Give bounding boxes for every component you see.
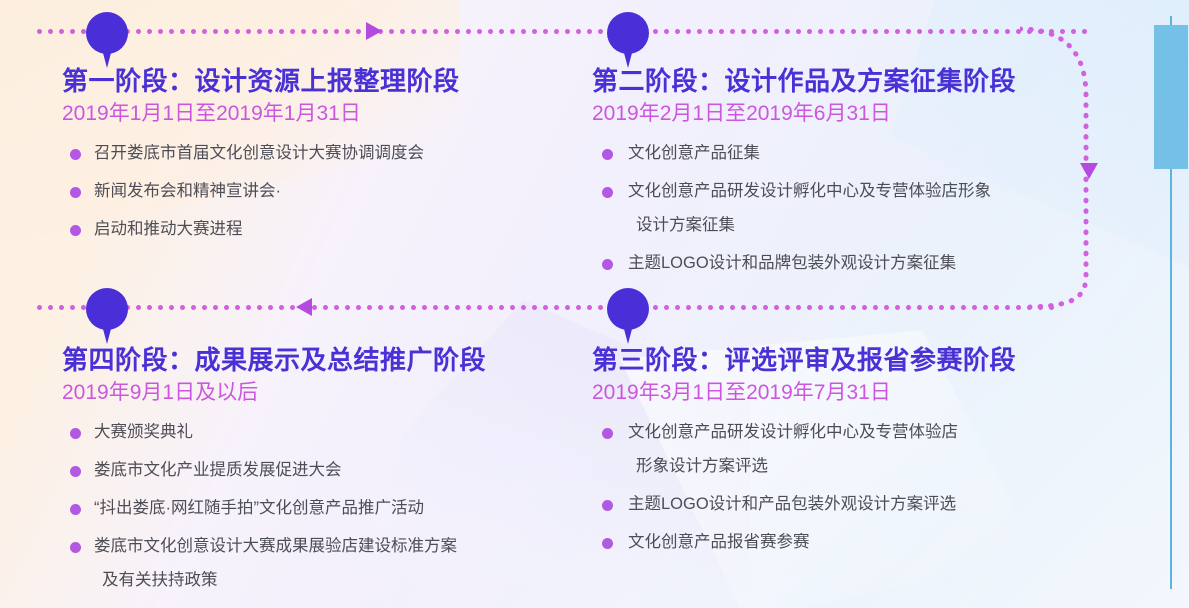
- bullet-icon: [70, 466, 81, 477]
- arrow-left-icon: [296, 298, 312, 316]
- bullet-icon: [70, 542, 81, 553]
- bullet-icon: [70, 504, 81, 515]
- stage-block-3: 第三阶段：评选评审及报省参赛阶段 2019年3月1日至2019年7月31日 文化…: [592, 345, 1092, 569]
- list-item: 娄底市文化产业提质发展促进大会: [62, 459, 562, 483]
- candlestick-bar-icon: [1154, 16, 1188, 596]
- list-item: 召开娄底市首届文化创意设计大赛协调调度会: [62, 142, 562, 166]
- bullet-icon: [70, 225, 81, 236]
- list-item-text: 主题LOGO设计和产品包装外观设计方案评选: [628, 495, 956, 513]
- bullet-icon: [602, 428, 613, 439]
- list-item: 新闻发布会和精神宣讲会·: [62, 180, 562, 204]
- list-item-text-line2: 形象设计方案评选: [628, 455, 1092, 479]
- list-item: “抖出娄底·网红随手拍”文化创意产品推广活动: [62, 497, 562, 521]
- stage-item-list: 召开娄底市首届文化创意设计大赛协调调度会 新闻发布会和精神宣讲会· 启动和推动大…: [62, 142, 562, 242]
- list-item-text: 娄底市文化创意设计大赛成果展验店建设标准方案: [94, 537, 457, 555]
- list-item-text: 文化创意产品征集: [628, 144, 760, 162]
- location-pin-icon-stage-4: [86, 288, 128, 344]
- list-item: 文化创意产品报省赛参赛: [592, 531, 1092, 555]
- stage-item-list: 文化创意产品研发设计孵化中心及专营体验店 形象设计方案评选 主题LOGO设计和产…: [592, 421, 1092, 555]
- list-item-text: “抖出娄底·网红随手拍”文化创意产品推广活动: [94, 499, 424, 517]
- bullet-icon: [602, 149, 613, 160]
- list-item-text: 召开娄底市首届文化创意设计大赛协调调度会: [94, 144, 424, 162]
- list-item: 娄底市文化创意设计大赛成果展验店建设标准方案 及有关扶持政策: [62, 535, 562, 593]
- list-item-text: 文化创意产品研发设计孵化中心及专营体验店形象: [628, 182, 991, 200]
- list-item-text: 文化创意产品研发设计孵化中心及专营体验店: [628, 423, 958, 441]
- location-pin-icon-stage-1: [86, 12, 128, 68]
- list-item-text-line2: 设计方案征集: [628, 214, 1092, 238]
- infographic-canvas: 第一阶段：设计资源上报整理阶段 2019年1月1日至2019年1月31日 召开娄…: [0, 0, 1189, 608]
- list-item: 大赛颁奖典礼: [62, 421, 562, 445]
- list-item: 文化创意产品研发设计孵化中心及专营体验店形象 设计方案征集: [592, 180, 1092, 238]
- stage-item-list: 大赛颁奖典礼 娄底市文化产业提质发展促进大会 “抖出娄底·网红随手拍”文化创意产…: [62, 421, 562, 593]
- stage-date: 2019年3月1日至2019年7月31日: [592, 379, 1092, 407]
- bullet-icon: [602, 500, 613, 511]
- candlestick-upper-wick: [1170, 16, 1172, 25]
- stage-date: 2019年2月1日至2019年6月31日: [592, 100, 1092, 128]
- bullet-icon: [602, 187, 613, 198]
- list-item-text: 主题LOGO设计和品牌包装外观设计方案征集: [628, 254, 956, 272]
- stage-title: 第三阶段：评选评审及报省参赛阶段: [592, 345, 1092, 376]
- stage-item-list: 文化创意产品征集 文化创意产品研发设计孵化中心及专营体验店形象 设计方案征集 主…: [592, 142, 1092, 276]
- stage-date: 2019年1月1日至2019年1月31日: [62, 100, 562, 128]
- bullet-icon: [70, 187, 81, 198]
- timeline-rail-top: [34, 29, 1090, 34]
- location-pin-icon-stage-3: [607, 288, 649, 344]
- list-item-text: 娄底市文化产业提质发展促进大会: [94, 461, 342, 479]
- list-item: 启动和推动大赛进程: [62, 218, 562, 242]
- list-item: 文化创意产品征集: [592, 142, 1092, 166]
- stage-block-1: 第一阶段：设计资源上报整理阶段 2019年1月1日至2019年1月31日 召开娄…: [62, 66, 562, 256]
- candlestick-lower-wick: [1170, 169, 1172, 589]
- list-item: 主题LOGO设计和产品包装外观设计方案评选: [592, 493, 1092, 517]
- list-item-text: 大赛颁奖典礼: [94, 423, 193, 441]
- candlestick-body: [1154, 25, 1188, 169]
- stage-date: 2019年9月1日及以后: [62, 379, 562, 407]
- list-item-text: 启动和推动大赛进程: [94, 220, 243, 238]
- bullet-icon: [602, 538, 613, 549]
- stage-title: 第二阶段：设计作品及方案征集阶段: [592, 66, 1092, 97]
- location-pin-icon-stage-2: [607, 12, 649, 68]
- stage-block-2: 第二阶段：设计作品及方案征集阶段 2019年2月1日至2019年6月31日 文化…: [592, 66, 1092, 290]
- bullet-icon: [602, 259, 613, 270]
- stage-block-4: 第四阶段：成果展示及总结推广阶段 2019年9月1日及以后 大赛颁奖典礼 娄底市…: [62, 345, 562, 607]
- bullet-icon: [70, 149, 81, 160]
- bullet-icon: [70, 428, 81, 439]
- timeline-rail-bottom: [34, 305, 1054, 310]
- list-item: 主题LOGO设计和品牌包装外观设计方案征集: [592, 252, 1092, 276]
- list-item-text-line2: 及有关扶持政策: [94, 569, 562, 593]
- list-item: 文化创意产品研发设计孵化中心及专营体验店 形象设计方案评选: [592, 421, 1092, 479]
- list-item-text: 新闻发布会和精神宣讲会·: [94, 182, 281, 200]
- stage-title: 第四阶段：成果展示及总结推广阶段: [62, 345, 562, 376]
- arrow-right-icon: [366, 22, 382, 40]
- stage-title: 第一阶段：设计资源上报整理阶段: [62, 66, 562, 97]
- list-item-text: 文化创意产品报省赛参赛: [628, 533, 810, 551]
